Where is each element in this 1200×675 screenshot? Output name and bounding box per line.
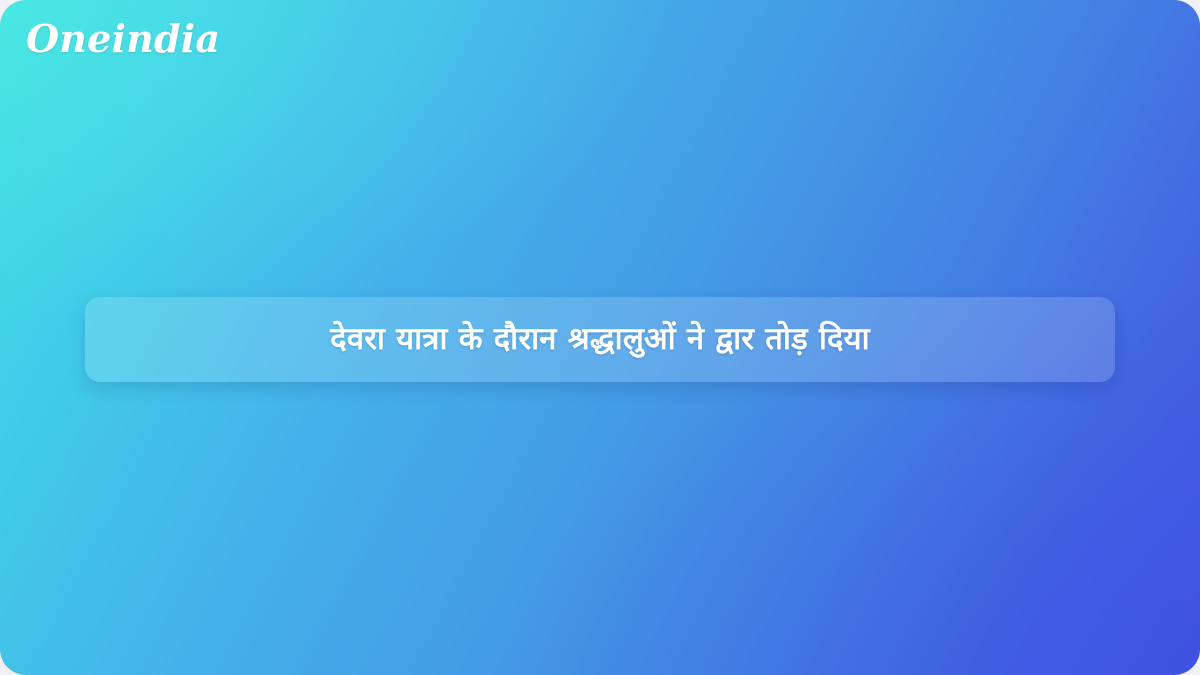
headline-banner: देवरा यात्रा के दौरान श्रद्धालुओं ने द्व… bbox=[85, 297, 1115, 382]
screenshot-canvas: Oneindia देवरा यात्रा के दौरान श्रद्धालु… bbox=[0, 0, 1200, 675]
oneindia-logo[interactable]: Oneindia bbox=[26, 20, 220, 58]
headline-title: देवरा यात्रा के दौरान श्रद्धालुओं ने द्व… bbox=[330, 320, 870, 359]
hero-gradient-background: Oneindia देवरा यात्रा के दौरान श्रद्धालु… bbox=[0, 0, 1200, 675]
